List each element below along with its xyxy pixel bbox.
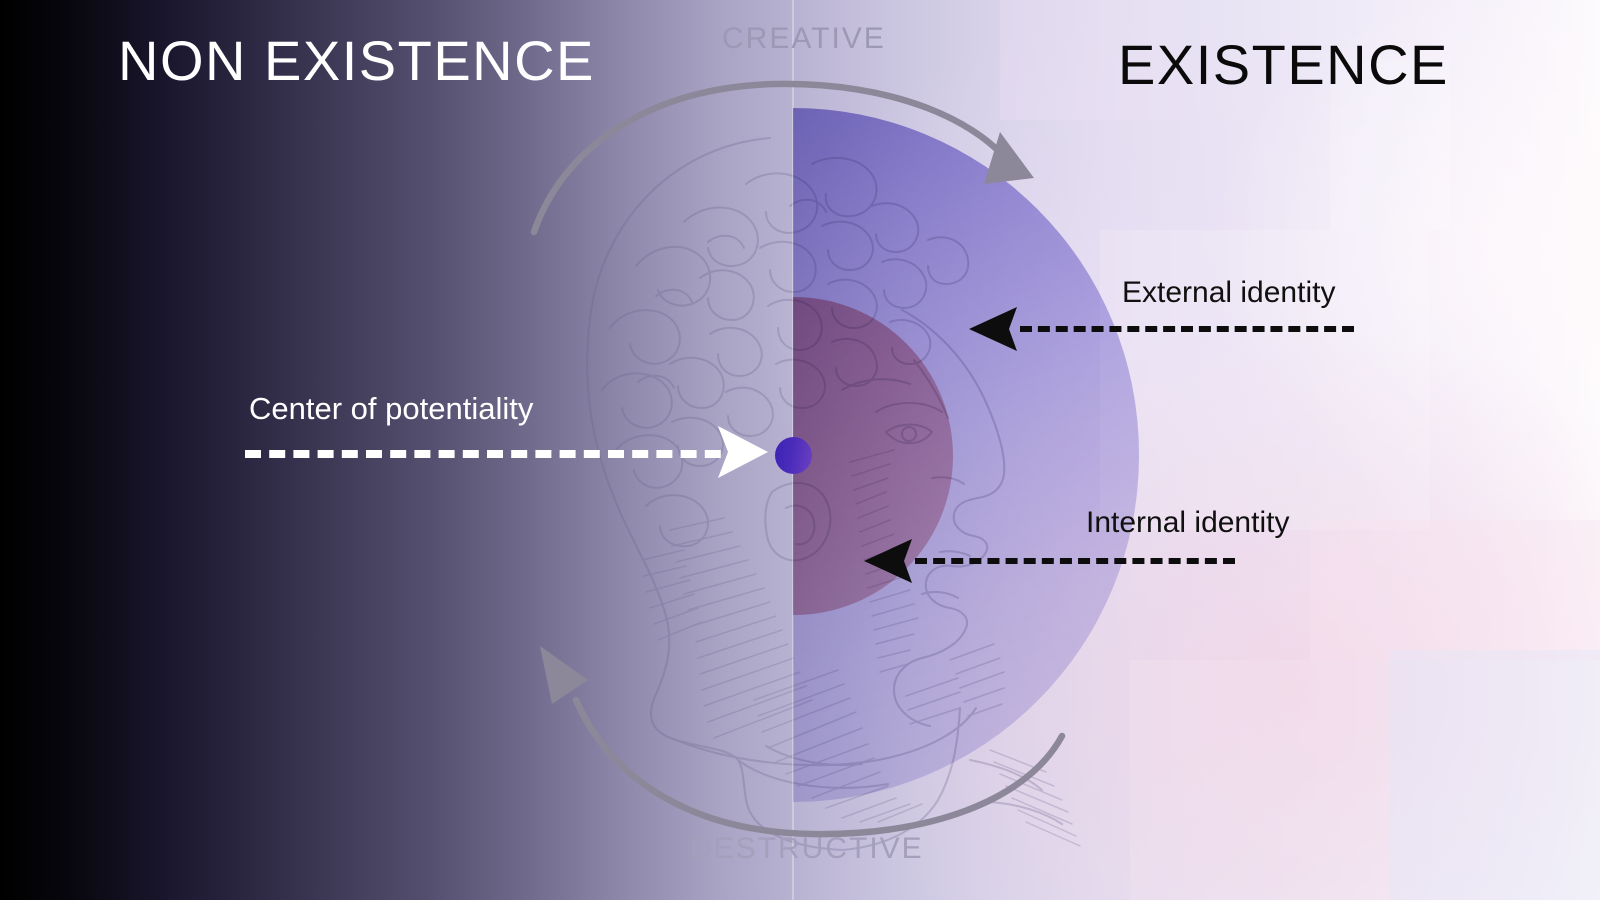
external-identity-connector xyxy=(1020,326,1354,332)
label-center-of-potentiality: Center of potentiality xyxy=(249,391,533,427)
label-external-identity: External identity xyxy=(1122,276,1335,310)
arrow-left-dashed-icon xyxy=(965,305,1027,358)
axis-label-destructive: DESTRUCTIVE xyxy=(690,832,924,866)
center-dot-icon xyxy=(775,437,812,474)
arrow-right-dashed-icon xyxy=(712,424,774,485)
internal-identity-connector xyxy=(915,558,1235,564)
label-internal-identity: Internal identity xyxy=(1086,506,1289,540)
background-block xyxy=(1310,520,1600,660)
background-block xyxy=(1130,660,1400,900)
page-title-non-existence: NON EXISTENCE xyxy=(118,28,595,93)
arrow-left-dashed-icon xyxy=(860,537,922,590)
axis-label-creative: CREATIVE xyxy=(722,22,886,56)
diagram-canvas: NON EXISTENCE EXISTENCE CREATIVE DESTRUC… xyxy=(0,0,1600,900)
background-block xyxy=(1390,650,1600,900)
page-title-existence: EXISTENCE xyxy=(1118,32,1449,97)
center-potentiality-connector xyxy=(245,450,745,458)
